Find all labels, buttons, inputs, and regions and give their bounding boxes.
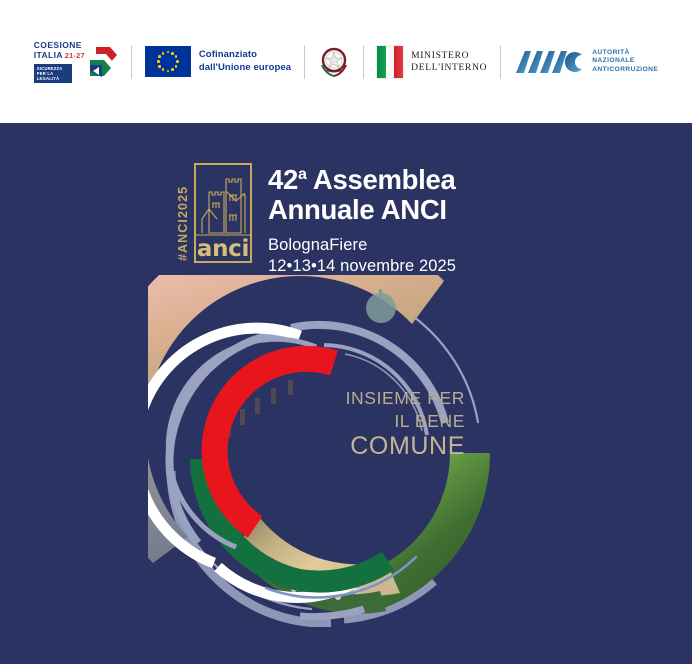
poster-claim: INSIEME PER IL BENE COMUNE — [300, 390, 465, 459]
logo-coesione-italia: COESIONE ITALIA 21-27 SICUREZZA PER LA L… — [21, 41, 131, 83]
eu-star-icon — [158, 65, 161, 68]
eu-star-icon — [171, 52, 174, 55]
anac-line1: AUTORITÀ — [592, 49, 658, 57]
venue-label: BolognaFiere — [268, 235, 456, 256]
italian-flag-icon — [377, 46, 403, 78]
eu-star-icon — [167, 51, 170, 54]
republic-emblem-icon — [318, 45, 350, 79]
title-line-1: 42a Assemblea — [268, 165, 456, 195]
coesione-years: 21-27 — [65, 52, 85, 61]
title-line-2: Annuale ANCI — [268, 195, 456, 225]
title-text-group: 42a Assemblea Annuale ANCI BolognaFiere … — [268, 163, 456, 277]
claim-line-2: IL BENE — [300, 413, 465, 431]
eu-star-icon — [162, 52, 165, 55]
eu-star-icon — [157, 60, 160, 63]
eu-star-icon — [171, 68, 174, 71]
eu-flag-icon — [145, 46, 191, 77]
funding-logos-header: COESIONE ITALIA 21-27 SICUREZZA PER LA L… — [0, 0, 692, 123]
anac-wordmark-icon — [514, 49, 586, 75]
eu-star-icon — [176, 60, 179, 63]
coesione-line1: COESIONE — [34, 41, 85, 50]
coesione-badge-line2: PER LA LEGALITÀ — [37, 71, 69, 81]
coesione-badge: SICUREZZA PER LA LEGALITÀ — [34, 64, 72, 83]
claim-line-3: COMUNE — [300, 434, 465, 459]
coesione-line2: ITALIA — [34, 51, 63, 60]
eu-star-icon — [175, 65, 178, 68]
hashtag-anci2025: #ANCI2025 — [176, 163, 190, 263]
ministero-line1: MINISTERO — [411, 50, 487, 62]
title-number: 42 — [268, 164, 298, 195]
poster-body: #ANCI2025 — [0, 123, 692, 664]
logo-eu-cofinanziato: Cofinanziato dall'Unione europea — [132, 46, 304, 77]
logo-ministero-interno: MINISTERO DELL'INTERNO — [364, 46, 500, 78]
logo-repubblica-emblem — [305, 45, 363, 79]
anac-line2: NAZIONALE — [592, 57, 658, 65]
ministero-line2: DELL'INTERNO — [411, 62, 487, 74]
eu-line2: dall'Unione europea — [199, 62, 291, 75]
anci-logo: anci — [194, 163, 252, 263]
coesione-arrows-icon — [88, 45, 118, 79]
event-title-block: #ANCI2025 — [176, 163, 456, 277]
anci-wordmark: anci — [196, 238, 250, 260]
dates-label: 12•13•14 novembre 2025 — [268, 256, 456, 277]
eu-star-icon — [167, 70, 170, 73]
logo-anac: AUTORITÀ NAZIONALE ANTICORRUZIONE — [501, 49, 671, 75]
eu-star-icon — [175, 55, 178, 58]
title-line1-rest: Assemblea — [307, 164, 456, 195]
eu-line1: Cofinanziato — [199, 49, 291, 62]
logo-strip: COESIONE ITALIA 21-27 SICUREZZA PER LA L… — [21, 41, 671, 83]
anac-line3: ANTICORRUZIONE — [592, 66, 658, 74]
eu-star-icon — [158, 55, 161, 58]
claim-line-1: INSIEME PER — [300, 390, 465, 408]
title-ordinal: a — [298, 166, 307, 183]
eu-star-icon — [162, 68, 165, 71]
